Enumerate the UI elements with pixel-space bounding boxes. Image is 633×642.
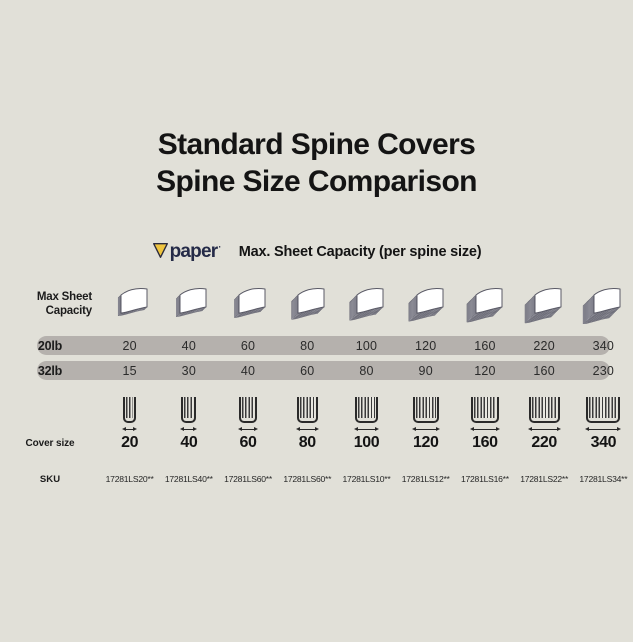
paper-stack-icon <box>580 280 626 329</box>
capacity-20lb-cell: 80 <box>278 336 337 355</box>
subtitle-row: paper · Max. Sheet Capacity (per spine s… <box>0 240 633 263</box>
capacity-32lb-cell: 80 <box>337 361 396 380</box>
capacity-row-20lb-label: 20lb <box>0 336 100 355</box>
paper-stack-icon <box>521 280 567 329</box>
sku-cell: 17281LS12** <box>396 470 455 488</box>
paper-stack-icon <box>462 280 508 329</box>
sku-cell: 17281LS60** <box>278 470 337 488</box>
paper-stack-icon <box>403 280 449 329</box>
cover-size-row: Cover size 20 40 60 80 100 120 160 220 3… <box>0 432 633 454</box>
capacity-32lb-cell: 15 <box>100 361 159 380</box>
capacity-row-32lb: 32lb 15 30 40 60 80 90 120 160 230 <box>37 361 610 380</box>
v-logo-icon <box>152 242 169 259</box>
spine-cell <box>455 388 514 433</box>
spine-cell <box>515 388 574 433</box>
spine-cross-section-icon <box>238 388 258 433</box>
spine-cell <box>218 388 277 433</box>
capacity-20lb-cell: 340 <box>574 336 633 355</box>
cover-size-cell: 60 <box>218 432 277 454</box>
capacity-32lb-cell: 40 <box>218 361 277 380</box>
sku-label: SKU <box>0 470 100 488</box>
paper-stack-cell <box>337 278 396 330</box>
cover-size-cell: 220 <box>515 432 574 454</box>
capacity-row-20lb: 20lb 20 40 60 80 100 120 160 220 340 <box>37 336 610 355</box>
paper-stack-cell <box>100 278 159 330</box>
paper-stack-icon <box>166 280 212 329</box>
capacity-20lb-cell: 20 <box>100 336 159 355</box>
cover-size-cell: 160 <box>455 432 514 454</box>
spine-cell <box>396 388 455 433</box>
paper-stacks-row: Max Sheet Capacity <box>0 278 633 330</box>
cover-size-cell: 340 <box>574 432 633 454</box>
capacity-20lb-cell: 120 <box>396 336 455 355</box>
capacity-20lb-cell: 40 <box>159 336 218 355</box>
max-sheet-capacity-label-line2: Capacity <box>37 304 92 318</box>
paper-stack-icon <box>107 280 153 329</box>
paper-stack-cell <box>455 278 514 330</box>
spine-cell <box>100 388 159 433</box>
spine-cell <box>574 388 633 433</box>
spine-cell <box>159 388 218 433</box>
capacity-20lb-cell: 220 <box>515 336 574 355</box>
infographic-canvas: Standard Spine Covers Spine Size Compari… <box>0 0 633 642</box>
page-title: Standard Spine Covers Spine Size Compari… <box>0 126 633 200</box>
max-sheet-capacity-label-line1: Max Sheet <box>37 290 92 304</box>
spine-cell <box>337 388 396 433</box>
capacity-20lb-cell: 100 <box>337 336 396 355</box>
paper-stack-icon <box>225 280 271 329</box>
spine-cross-section-icon <box>180 388 197 433</box>
spine-cross-section-icon <box>528 388 561 433</box>
paper-stack-cell <box>396 278 455 330</box>
sku-cell: 17281LS10** <box>337 470 396 488</box>
spine-cross-section-icon <box>470 388 500 433</box>
subtitle-text: Max. Sheet Capacity (per spine size) <box>239 244 482 260</box>
capacity-32lb-cell: 230 <box>574 361 633 380</box>
paper-stack-icon <box>343 280 389 329</box>
title-line-1: Standard Spine Covers <box>0 126 633 163</box>
cover-size-cell: 20 <box>100 432 159 454</box>
sku-cell: 17281LS34** <box>574 470 633 488</box>
spine-row-spacer <box>0 388 100 433</box>
sku-cell: 17281LS16** <box>455 470 514 488</box>
title-line-2: Spine Size Comparison <box>0 163 633 200</box>
spine-cross-section-icon <box>354 388 379 433</box>
capacity-20lb-cell: 60 <box>218 336 277 355</box>
paper-stack-cell <box>278 278 337 330</box>
spine-cross-section-icon <box>296 388 319 433</box>
spine-cell <box>278 388 337 433</box>
logo-wordmark: paper <box>170 241 218 263</box>
sku-cell: 17281LS40** <box>159 470 218 488</box>
cover-size-label: Cover size <box>0 432 100 454</box>
max-sheet-capacity-label: Max Sheet Capacity <box>0 278 100 330</box>
paper-stack-cell <box>159 278 218 330</box>
paper-stack-cell <box>218 278 277 330</box>
capacity-32lb-cell: 120 <box>455 361 514 380</box>
paper-stack-cell <box>574 278 633 330</box>
vpaper-logo: paper · <box>152 240 221 263</box>
cover-size-cell: 120 <box>396 432 455 454</box>
cover-size-cell: 100 <box>337 432 396 454</box>
paper-stack-cell <box>515 278 574 330</box>
spine-cross-section-icon <box>585 388 621 433</box>
spine-cross-section-icon <box>412 388 440 433</box>
logo-trademark-icon: · <box>218 242 220 252</box>
capacity-32lb-cell: 30 <box>159 361 218 380</box>
capacity-20lb-cell: 160 <box>455 336 514 355</box>
sku-row: SKU 17281LS20** 17281LS40** 17281LS60** … <box>0 470 633 488</box>
capacity-row-32lb-label: 32lb <box>0 361 100 380</box>
cover-size-cell: 80 <box>278 432 337 454</box>
capacity-32lb-cell: 90 <box>396 361 455 380</box>
cover-size-cell: 40 <box>159 432 218 454</box>
capacity-32lb-cell: 160 <box>515 361 574 380</box>
sku-cell: 17281LS20** <box>100 470 159 488</box>
sku-cell: 17281LS60** <box>218 470 277 488</box>
capacity-32lb-cell: 60 <box>278 361 337 380</box>
sku-cell: 17281LS22** <box>515 470 574 488</box>
spine-icons-row <box>0 388 633 433</box>
paper-stack-icon <box>284 280 330 329</box>
spine-cross-section-icon <box>122 388 137 433</box>
